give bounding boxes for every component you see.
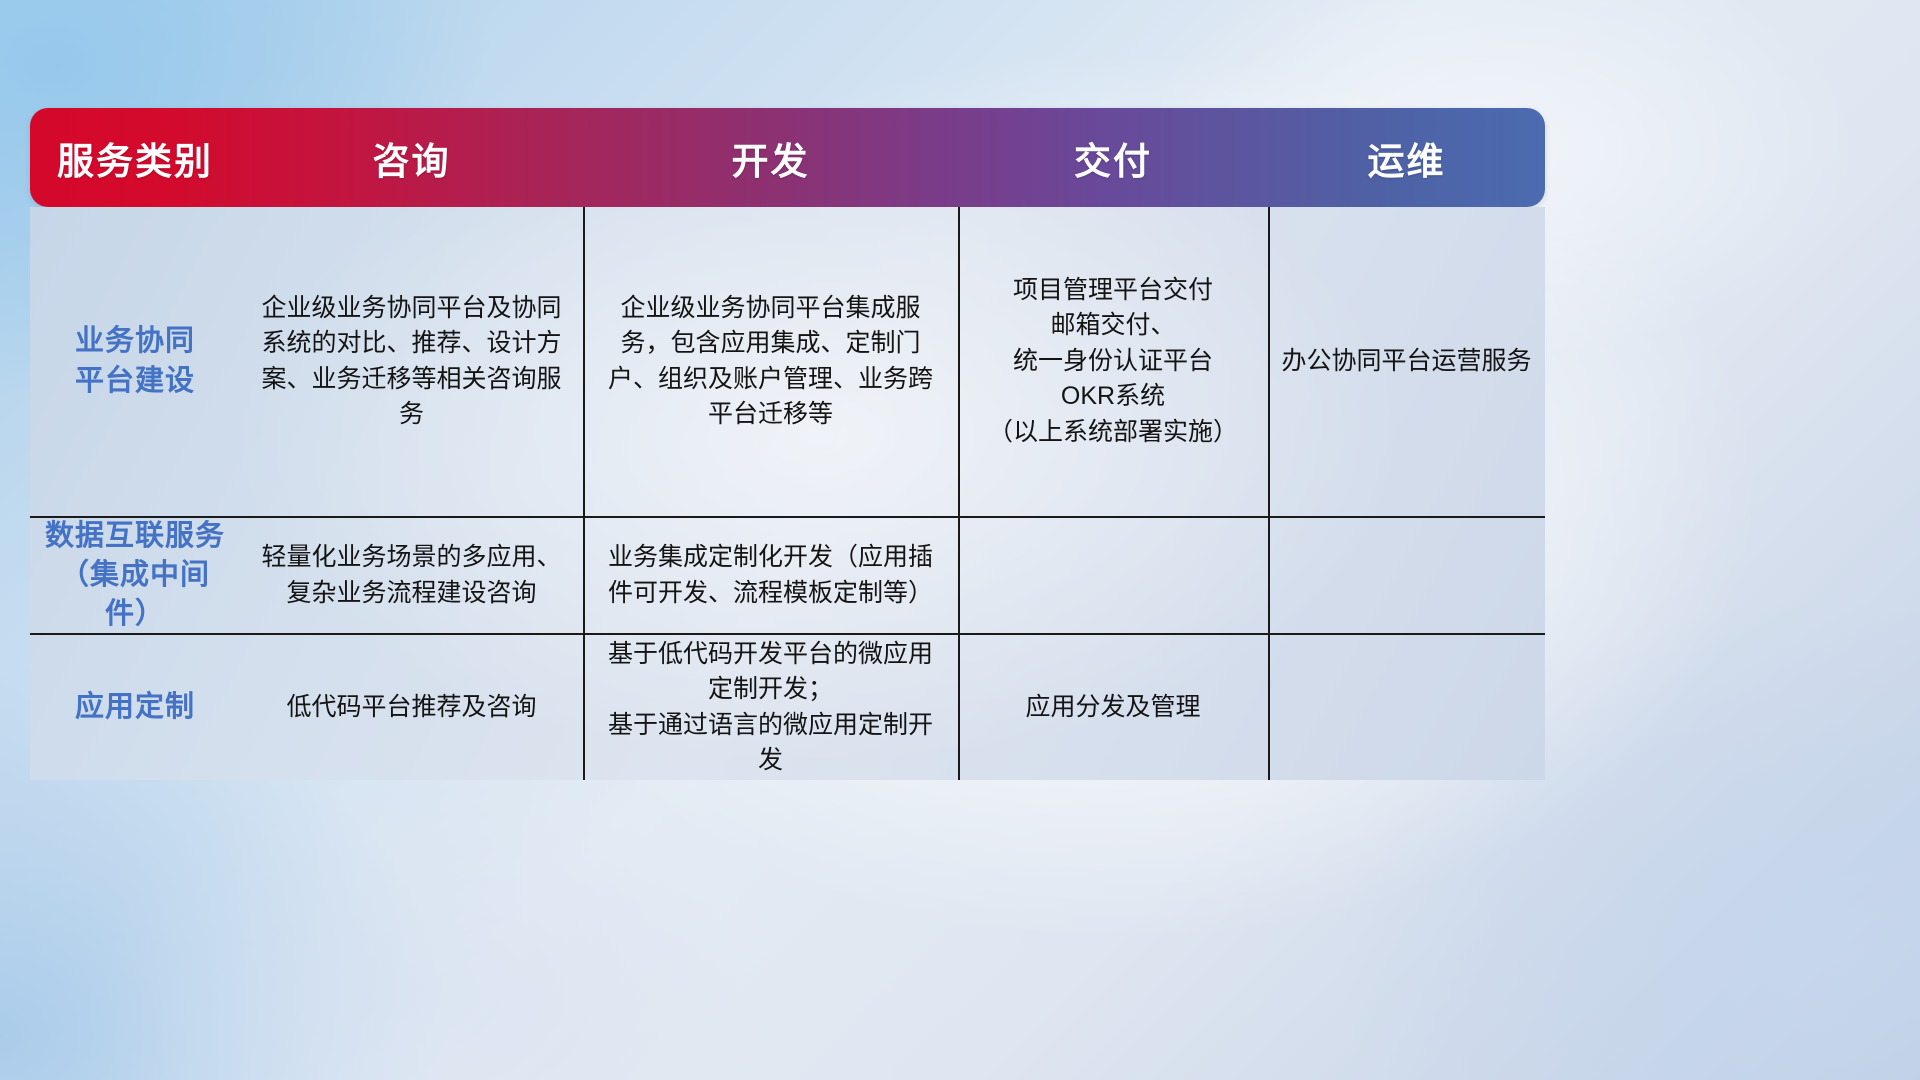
row-label-business-collaboration: 业务协同 平台建设	[75, 322, 195, 400]
column-header-development: 开发	[583, 131, 958, 185]
column-header-service-category: 服务类别	[30, 131, 240, 185]
cell-text: 项目管理平台交付 邮箱交付、 统一身份认证平台 OKR系统 （以上系统部署实施）	[988, 273, 1238, 451]
cell-text: 应用分发及管理	[1025, 690, 1200, 726]
table-body: 业务协同 平台建设 企业级业务协同平台及协同系统的对比、推荐、设计方案、业务迁移…	[30, 207, 1545, 780]
row-label-cell: 应用定制	[30, 635, 240, 780]
cell-text: 低代码平台推荐及咨询	[286, 690, 536, 726]
cell-operations	[1268, 518, 1545, 633]
cell-consulting: 企业级业务协同平台及协同系统的对比、推荐、设计方案、业务迁移等相关咨询服务	[240, 207, 583, 516]
table-row: 数据互联服务 （集成中间件） 轻量化业务场景的多应用、复杂业务流程建设咨询 业务…	[30, 518, 1545, 633]
row-label-cell: 数据互联服务 （集成中间件）	[30, 518, 240, 633]
table-header-row: 服务类别 咨询 开发 交付 运维	[30, 108, 1545, 207]
service-matrix-table: 服务类别 咨询 开发 交付 运维 业务协同 平台建设 企业级业务协同平台及协同系…	[30, 108, 1545, 780]
cell-development: 企业级业务协同平台集成服务，包含应用集成、定制门户、组织及账户管理、业务跨平台迁…	[583, 207, 958, 516]
cell-development: 业务集成定制化开发（应用插件可开发、流程模板定制等）	[583, 518, 958, 633]
cell-delivery: 项目管理平台交付 邮箱交付、 统一身份认证平台 OKR系统 （以上系统部署实施）	[958, 207, 1268, 516]
column-header-consulting: 咨询	[240, 131, 583, 185]
cell-text: 轻量化业务场景的多应用、复杂业务流程建设咨询	[257, 540, 567, 611]
cell-consulting: 轻量化业务场景的多应用、复杂业务流程建设咨询	[240, 518, 583, 633]
row-label-cell: 业务协同 平台建设	[30, 207, 240, 516]
table-row: 业务协同 平台建设 企业级业务协同平台及协同系统的对比、推荐、设计方案、业务迁移…	[30, 207, 1545, 516]
cell-text: 基于低代码开发平台的微应用定制开发； 基于通过语言的微应用定制开发	[600, 637, 942, 779]
cell-development: 基于低代码开发平台的微应用定制开发； 基于通过语言的微应用定制开发	[583, 635, 958, 780]
column-header-operations: 运维	[1268, 131, 1545, 185]
cell-text: 业务集成定制化开发（应用插件可开发、流程模板定制等）	[600, 540, 942, 611]
cell-text: 企业级业务协同平台及协同系统的对比、推荐、设计方案、业务迁移等相关咨询服务	[257, 291, 567, 433]
row-label-app-customization: 应用定制	[75, 688, 195, 727]
cell-operations	[1268, 635, 1545, 780]
cell-operations: 办公协同平台运营服务	[1268, 207, 1545, 516]
row-label-data-interconnect: 数据互联服务 （集成中间件）	[40, 517, 230, 634]
column-header-delivery: 交付	[958, 131, 1268, 185]
cell-text: 办公协同平台运营服务	[1281, 344, 1531, 380]
cell-text: 企业级业务协同平台集成服务，包含应用集成、定制门户、组织及账户管理、业务跨平台迁…	[600, 291, 942, 433]
cell-delivery	[958, 518, 1268, 633]
table-row: 应用定制 低代码平台推荐及咨询 基于低代码开发平台的微应用定制开发； 基于通过语…	[30, 635, 1545, 780]
cell-delivery: 应用分发及管理	[958, 635, 1268, 780]
cell-consulting: 低代码平台推荐及咨询	[240, 635, 583, 780]
